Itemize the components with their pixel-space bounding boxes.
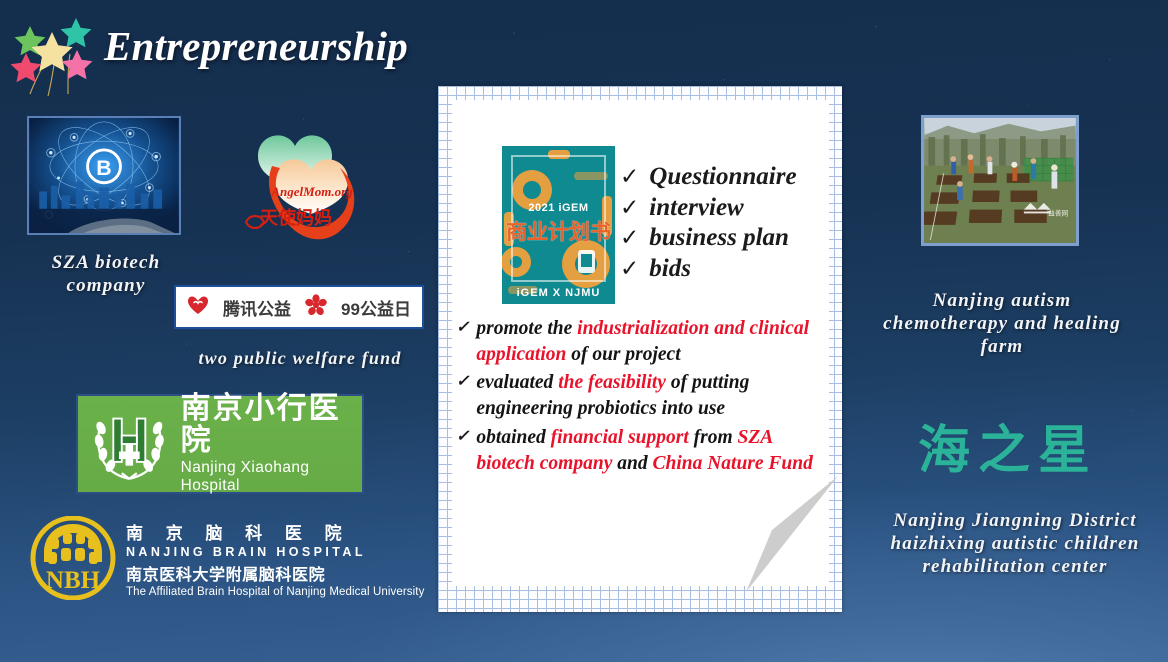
highlighted-phrase: financial support [551,427,689,448]
nbh-english-name: NANJING BRAIN HOSPITAL [126,545,424,559]
xiaohang-english-name: Nanjing Xiaohang Hospital [181,459,362,495]
autism-healing-farm-photo: 益善网 [921,115,1079,246]
plain-phrase: and [612,453,652,474]
blockchain-network-image: B [27,116,181,235]
farm-caption: Nanjing autism chemotherapy and healing … [872,290,1132,358]
checklist-item: ✓bids [620,254,835,284]
svg-text:AngelMom.org: AngelMom.org [270,184,353,199]
bullet-item: ✓promote the industrialization and clini… [456,316,828,368]
plain-phrase: of our project [566,344,680,365]
checklist-item: ✓Questionnaire [620,162,835,192]
checklist-item-label: Questionnaire [649,162,796,192]
checklist-item-label: bids [649,254,691,284]
svg-text:B: B [96,156,111,180]
highlighted-phrase: China Nature Fund [652,453,812,474]
check-icon: ✓ [456,425,469,448]
charity-day-label: 99公益日 [341,295,411,320]
bullet-item-text: promote the industrialization and clinic… [476,316,828,368]
outcomes-bullet-list: ✓promote the industrialization and clini… [456,316,828,479]
check-icon: ✓ [456,370,469,393]
plain-phrase: promote the [476,318,577,339]
brain-hospital-logo: NBH 南 京 脑 科 医 院 NANJING BRAIN HOSPITAL 南… [30,515,430,601]
sza-caption: SZA biotech company [16,252,196,298]
bizplan-year-label: 2021 iGEM [502,202,615,214]
bullet-item-text: evaluated the feasibility of putting eng… [476,370,828,422]
page-fold-triangle [742,474,842,594]
checklist-item-label: business plan [649,223,789,253]
check-icon: ✓ [620,257,639,280]
xiaohang-chinese-name: 南京小行医院 [181,393,362,456]
charity-day-flower-icon [305,294,327,321]
svg-text:益善网: 益善网 [1048,208,1068,217]
page-title: Entrepreneurship [104,22,408,70]
check-icon: ✓ [620,196,639,219]
slide-canvas: Entrepreneurship [0,0,1168,662]
bizplan-team-label: iGEM X NJMU [502,287,615,299]
xiaohang-hospital-logo: 南京小行医院 Nanjing Xiaohang Hospital [76,394,364,494]
checklist-item: ✓interview [620,193,835,223]
bullet-item-text: obtained financial support from SZA biot… [476,425,828,477]
tencent-charity-label: 腾讯公益 [223,295,291,320]
svg-text:天使妈妈: 天使妈妈 [260,208,332,228]
plain-phrase: from [689,427,738,448]
haizhixing-logo: 海之星 [908,408,1108,478]
welfare-fund-caption: two public welfare fund [150,348,450,370]
check-icon: ✓ [620,165,639,188]
deliverables-checklist: ✓Questionnaire✓interview✓business plan✓b… [620,162,835,284]
checklist-item-label: interview [649,193,743,223]
nbh-chinese-name: 南 京 脑 科 医 院 [126,519,424,544]
business-plan-cover: 2021 iGEM 商业计划书 iGEM X NJMU [502,146,615,304]
haizhixing-caption: Nanjing Jiangning District haizhixing au… [880,510,1150,578]
nbh-affiliation-chinese: 南京医科大学附属脑科医院 [126,561,424,585]
stars-cluster-icon [6,8,102,100]
bullet-item: ✓obtained financial support from SZA bio… [456,425,828,477]
check-icon: ✓ [456,316,469,339]
tencent-heart-icon [187,295,209,320]
angelmom-logo: AngelMom.org 天使妈妈 [228,118,380,260]
plain-phrase: evaluated [476,372,558,393]
nbh-affiliation-english: The Affiliated Brain Hospital of Nanjing… [126,586,424,598]
highlighted-phrase: the feasibility [558,372,666,393]
wreath-medical-emblem-icon [86,401,173,487]
svg-text:NBH: NBH [46,567,101,594]
plain-phrase: obtained [476,427,550,448]
tencent-charity-logo-box: 腾讯公益 99公益日 [174,285,424,329]
check-icon: ✓ [620,226,639,249]
checklist-item: ✓business plan [620,223,835,253]
bizplan-title-chinese: 商业计划书 [502,216,615,246]
bullet-item: ✓evaluated the feasibility of putting en… [456,370,828,422]
nbh-brain-emblem-icon: NBH [30,516,116,600]
